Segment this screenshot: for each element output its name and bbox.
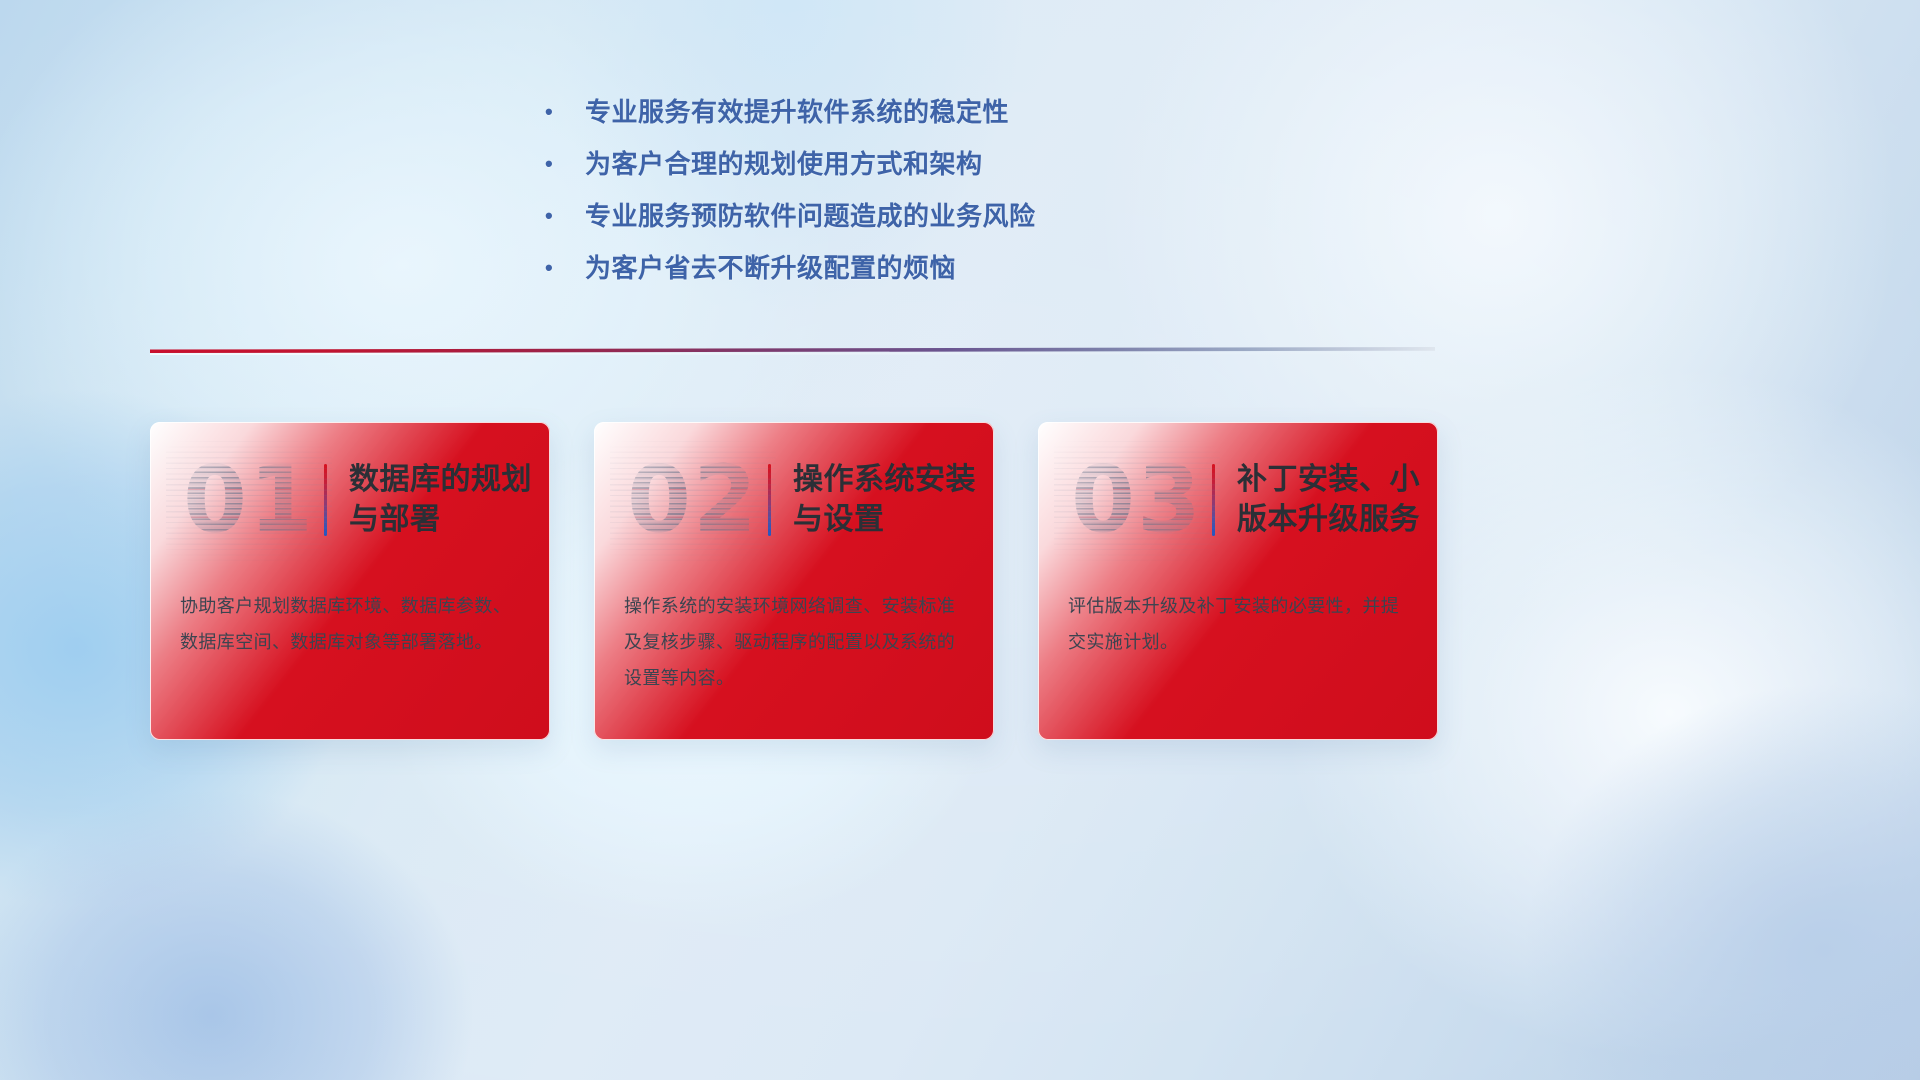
card-header: 02 操作系统安装 与设置 bbox=[594, 422, 994, 578]
card-title-line-1: 数据库的规划 bbox=[349, 460, 536, 500]
card-title-line-1: 操作系统安装 bbox=[793, 460, 980, 500]
card-description: 操作系统的安装环境网络调查、安装标准及复核步骤、驱动程序的配置以及系统的设置等内… bbox=[624, 588, 964, 696]
service-card[interactable]: 01 数据库的规划 与部署 协助客户规划数据库环境、数据库参数、数据库空间、数据… bbox=[150, 422, 550, 740]
card-number: 02 bbox=[627, 454, 759, 546]
card-number-badge: 01 bbox=[180, 445, 318, 555]
card-title-line-2: 与部署 bbox=[349, 500, 536, 540]
card-description: 协助客户规划数据库环境、数据库参数、数据库空间、数据库对象等部署落地。 bbox=[180, 588, 520, 660]
card-number-badge: 02 bbox=[624, 445, 762, 555]
card-header: 03 补丁安装、小 版本升级服务 bbox=[1038, 422, 1438, 578]
card-title-divider bbox=[1212, 464, 1215, 536]
card-number: 01 bbox=[183, 454, 315, 546]
card-header: 01 数据库的规划 与部署 bbox=[150, 422, 550, 578]
card-title-divider bbox=[324, 464, 327, 536]
card-title-divider bbox=[768, 464, 771, 536]
list-item: • 专业服务预防软件问题造成的业务风险 bbox=[545, 196, 1345, 248]
card-title: 操作系统安装 与设置 bbox=[793, 460, 994, 539]
benefits-bullet-list: • 专业服务有效提升软件系统的稳定性 • 为客户合理的规划使用方式和架构 • 专… bbox=[545, 92, 1345, 300]
list-item: • 专业服务有效提升软件系统的稳定性 bbox=[545, 92, 1345, 144]
list-item: • 为客户合理的规划使用方式和架构 bbox=[545, 144, 1345, 196]
card-title-line-2: 与设置 bbox=[793, 500, 980, 540]
service-card[interactable]: 03 补丁安装、小 版本升级服务 评估版本升级及补丁安装的必要性，并提交实施计划… bbox=[1038, 422, 1438, 740]
card-title-line-1: 补丁安装、小 bbox=[1237, 460, 1424, 500]
divider-gradient-bar bbox=[150, 347, 1435, 353]
bullet-dot-icon: • bbox=[545, 257, 585, 279]
bullet-dot-icon: • bbox=[545, 153, 585, 175]
section-divider bbox=[150, 344, 1435, 357]
bullet-dot-icon: • bbox=[545, 205, 585, 227]
card-description: 评估版本升级及补丁安装的必要性，并提交实施计划。 bbox=[1068, 588, 1408, 660]
card-title: 数据库的规划 与部署 bbox=[349, 460, 550, 539]
bullet-text: 为客户省去不断升级配置的烦恼 bbox=[585, 248, 1345, 285]
bullet-text: 为客户合理的规划使用方式和架构 bbox=[585, 144, 1345, 181]
card-title: 补丁安装、小 版本升级服务 bbox=[1237, 460, 1438, 539]
bullet-text: 专业服务预防软件问题造成的业务风险 bbox=[585, 196, 1345, 233]
service-card[interactable]: 02 操作系统安装 与设置 操作系统的安装环境网络调查、安装标准及复核步骤、驱动… bbox=[594, 422, 994, 740]
card-title-line-2: 版本升级服务 bbox=[1237, 500, 1424, 540]
service-card-list: 01 数据库的规划 与部署 协助客户规划数据库环境、数据库参数、数据库空间、数据… bbox=[150, 422, 1440, 742]
list-item: • 为客户省去不断升级配置的烦恼 bbox=[545, 248, 1345, 300]
bullet-dot-icon: • bbox=[545, 101, 585, 123]
bullet-text: 专业服务有效提升软件系统的稳定性 bbox=[585, 92, 1345, 129]
card-number-badge: 03 bbox=[1068, 445, 1206, 555]
card-number: 03 bbox=[1071, 454, 1203, 546]
